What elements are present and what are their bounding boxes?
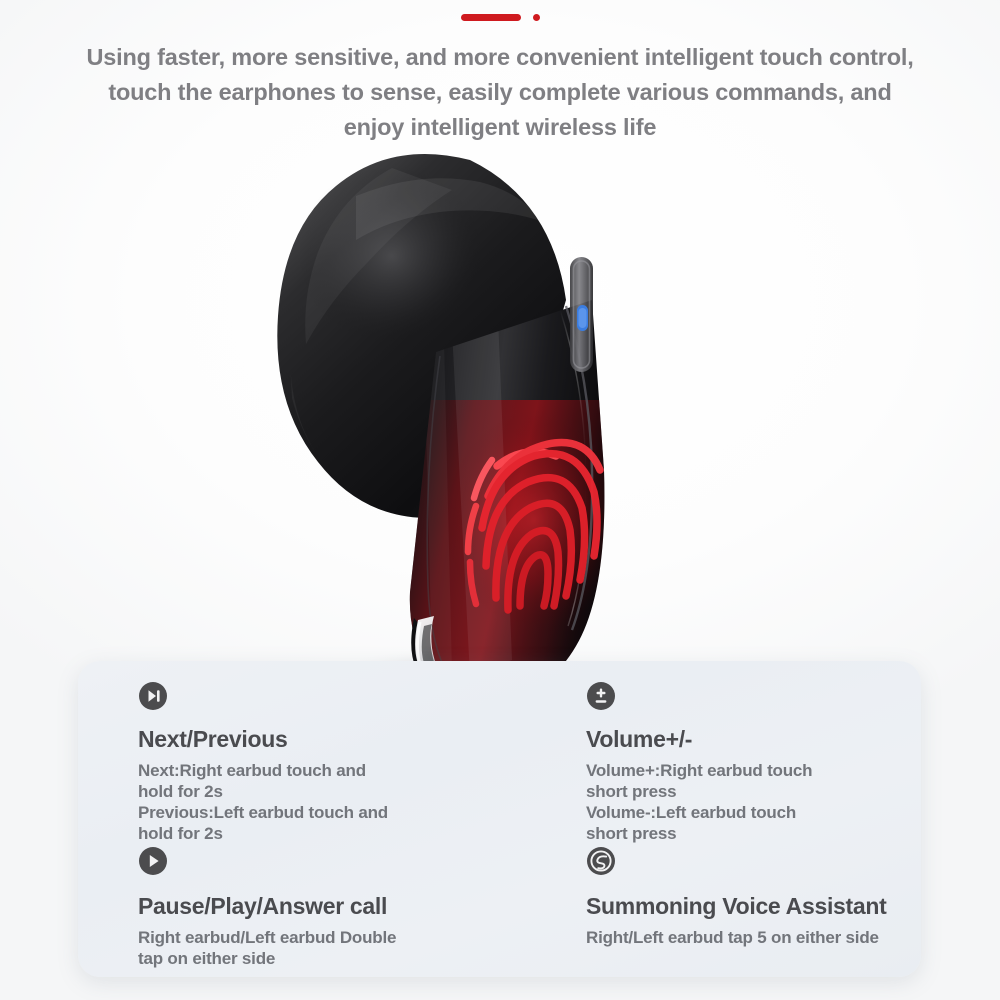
control-title: Next/Previous: [138, 725, 528, 753]
skip-next-icon: [138, 681, 168, 711]
led-indicator: [577, 305, 588, 331]
control-item-volume: Volume+/- Volume+:Right earbud touch sho…: [528, 675, 921, 844]
control-title: Summoning Voice Assistant: [586, 892, 921, 920]
control-description: Right earbud/Left earbud Double tap on e…: [138, 927, 528, 969]
control-description: Volume+:Right earbud touch short press V…: [586, 760, 921, 844]
control-description: Next:Right earbud touch and hold for 2s …: [138, 760, 528, 844]
control-description: Right/Left earbud tap 5 on either side: [586, 927, 921, 948]
headline: Using faster, more sensitive, and more c…: [30, 40, 970, 145]
led-strip: [570, 257, 593, 372]
play-icon: [138, 846, 168, 876]
control-item-next-previous: Next/Previous Next:Right earbud touch an…: [78, 675, 528, 844]
earbud-bulb: [277, 154, 566, 518]
plus-minus-icon: [586, 681, 616, 711]
accent-dot: [533, 14, 540, 21]
control-item-pause-play: Pause/Play/Answer call Right earbud/Left…: [78, 844, 528, 971]
accent-bar: [461, 14, 521, 21]
control-title: Pause/Play/Answer call: [138, 892, 528, 920]
control-title: Volume+/-: [586, 725, 921, 753]
product-feature-page: Using faster, more sensitive, and more c…: [0, 0, 1000, 1000]
controls-card: Next/Previous Next:Right earbud touch an…: [78, 661, 921, 977]
earbud-stem: [410, 300, 605, 700]
voice-assistant-icon: [586, 846, 616, 876]
fingerprint-icon: [468, 442, 600, 610]
control-item-voice-assistant: Summoning Voice Assistant Right/Left ear…: [528, 844, 921, 971]
accent-mark: [0, 11, 1000, 23]
